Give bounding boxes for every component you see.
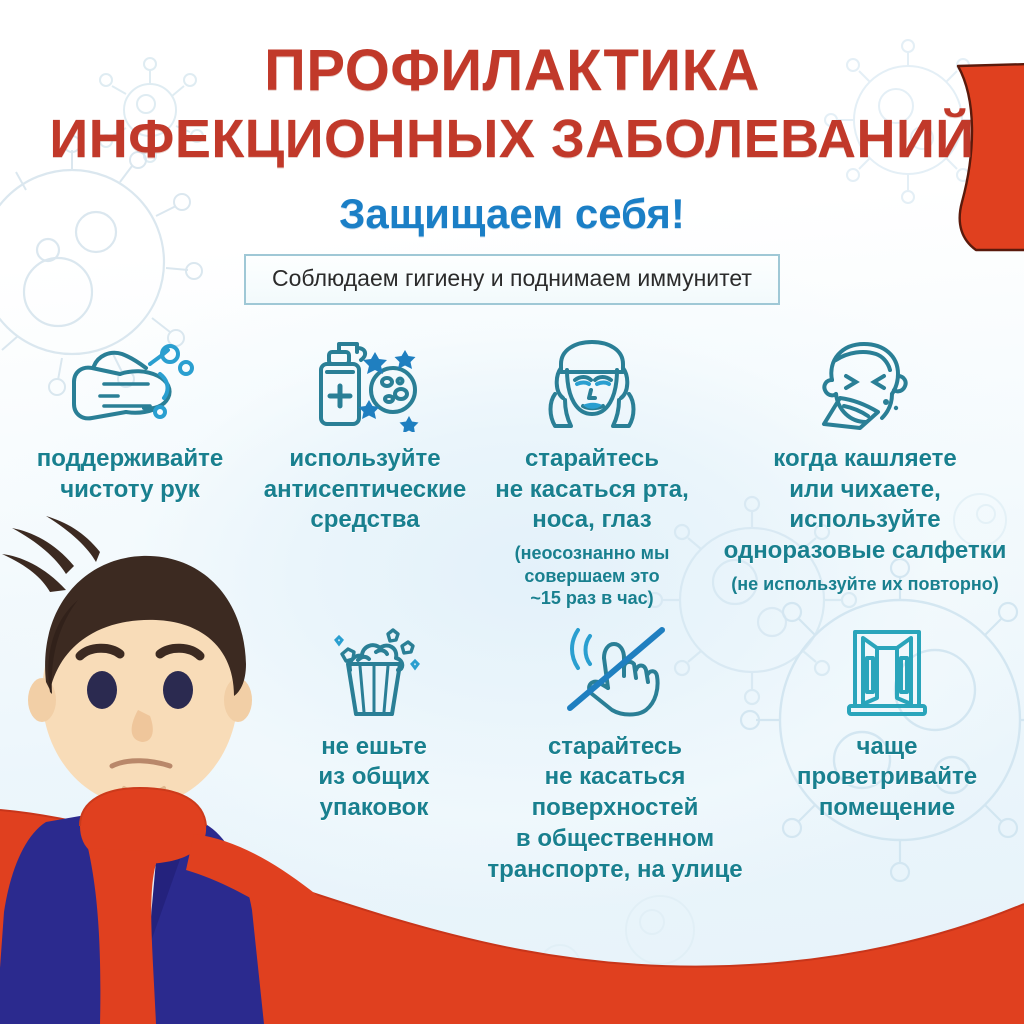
tip-use-tissue: когда кашляете или чихаете, используйте … — [706, 336, 1024, 595]
tips-row-2: не ешьте из общих упаковок — [0, 624, 1024, 886]
tip-note: (не используйте их повторно) — [731, 573, 998, 596]
poster-header: ПРОФИЛАКТИКА ИНФЕКЦИОННЫХ ЗАБОЛЕВАНИЙ За… — [0, 0, 1024, 305]
sneeze-tissue-icon — [806, 336, 924, 432]
tip-caption: поддерживайте чистоту рук — [37, 444, 223, 505]
title-line-1: ПРОФИЛАКТИКА — [0, 42, 1024, 100]
tip-no-shared-packages: не ешьте из общих упаковок — [268, 624, 480, 824]
subtitle: Защищаем себя! — [0, 190, 1024, 238]
tagline-box: Соблюдаем гигиену и поднимаем иммунитет — [244, 254, 780, 305]
tip-caption: чаще проветривайте помещение — [797, 732, 977, 824]
title-line-2: ИНФЕКЦИОННЫХ ЗАБОЛЕВАНИЙ — [0, 112, 1024, 166]
tip-use-antiseptic: используйте антисептические средства — [252, 336, 478, 536]
no-touch-surface-icon — [556, 624, 674, 720]
washing-hands-icon — [64, 336, 196, 432]
face-touch-icon — [537, 336, 647, 432]
tip-ventilate-room: чаще проветривайте помещение — [750, 624, 1024, 824]
open-window-icon — [839, 624, 935, 720]
tip-caption: старайтесь не касаться рта, носа, глаз — [495, 444, 689, 536]
tip-caption: старайтесь не касаться поверхностей в об… — [487, 732, 742, 886]
tip-caption: используйте антисептические средства — [264, 444, 466, 536]
tip-dont-touch-face: старайтесь не касаться рта, носа, глаз (… — [478, 336, 706, 610]
antiseptic-bottle-icon — [305, 336, 425, 432]
tips-grid: поддерживайте чистоту рук — [0, 336, 1024, 885]
tip-caption: не ешьте из общих упаковок — [318, 732, 429, 824]
tip-caption: когда кашляете или чихаете, используйте … — [724, 444, 1007, 567]
popcorn-icon — [326, 624, 422, 720]
tip-wash-hands: поддерживайте чистоту рук — [0, 336, 252, 505]
tip-no-touch-surfaces: старайтесь не касаться поверхностей в об… — [480, 624, 750, 886]
tip-note: (неосознанно мы совершаем это ~15 раз в … — [515, 542, 670, 610]
infographic-poster: ПРОФИЛАКТИКА ИНФЕКЦИОННЫХ ЗАБОЛЕВАНИЙ За… — [0, 0, 1024, 1024]
tips-row-1: поддерживайте чистоту рук — [0, 336, 1024, 610]
